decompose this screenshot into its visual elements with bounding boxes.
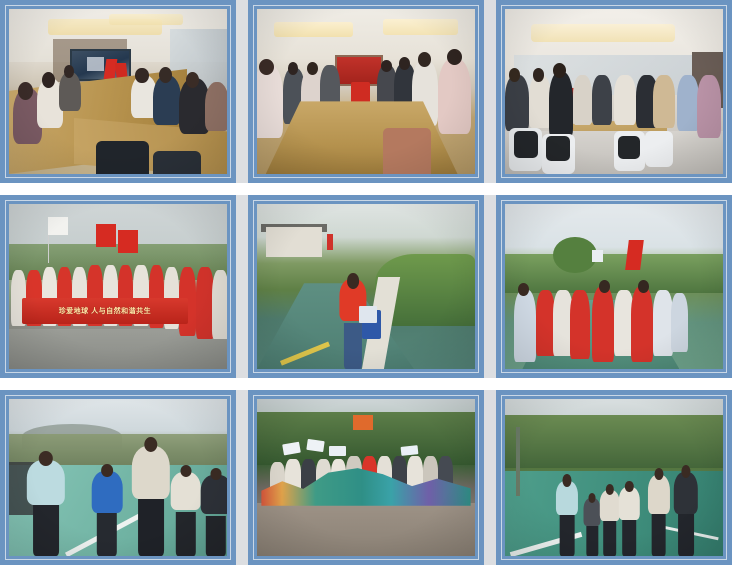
column-gutter-3 <box>236 195 248 378</box>
column-gutter-2 <box>484 0 496 183</box>
photo-cell-3[interactable] <box>496 0 732 183</box>
photo-image-6[interactable] <box>505 204 723 369</box>
photo-vignette <box>9 399 227 556</box>
column-gutter-6 <box>484 390 496 565</box>
column-gutter-1 <box>236 0 248 183</box>
row-gutter-1 <box>0 183 732 195</box>
photo-vignette <box>257 9 475 174</box>
photo-vignette <box>505 399 723 556</box>
photo-cell-4[interactable]: 珍爱地球 人与自然和谐共生 <box>0 195 236 378</box>
photo-image-4[interactable]: 珍爱地球 人与自然和谐共生 <box>9 204 227 369</box>
photo-vignette <box>9 9 227 174</box>
photo-cell-5[interactable] <box>248 195 484 378</box>
photo-image-7[interactable] <box>9 399 227 556</box>
column-gutter-4 <box>484 195 496 378</box>
photo-vignette <box>257 399 475 556</box>
photo-vignette <box>505 204 723 369</box>
photo-cell-1[interactable] <box>0 0 236 183</box>
photo-gallery-grid: 珍爱地球 人与自然和谐共生 <box>0 0 732 565</box>
photo-vignette <box>257 204 475 369</box>
photo-image-5[interactable] <box>257 204 475 369</box>
photo-image-3[interactable] <box>505 9 723 174</box>
photo-image-8[interactable] <box>257 399 475 556</box>
photo-image-2[interactable] <box>257 9 475 174</box>
photo-image-9[interactable] <box>505 399 723 556</box>
photo-cell-9[interactable] <box>496 390 732 565</box>
photo-cell-2[interactable] <box>248 0 484 183</box>
photo-cell-7[interactable] <box>0 390 236 565</box>
row-gutter-2 <box>0 378 732 390</box>
photo-vignette <box>505 9 723 174</box>
column-gutter-5 <box>236 390 248 565</box>
photo-cell-6[interactable] <box>496 195 732 378</box>
photo-image-1[interactable] <box>9 9 227 174</box>
photo-cell-8[interactable] <box>248 390 484 565</box>
photo-vignette <box>9 204 227 369</box>
